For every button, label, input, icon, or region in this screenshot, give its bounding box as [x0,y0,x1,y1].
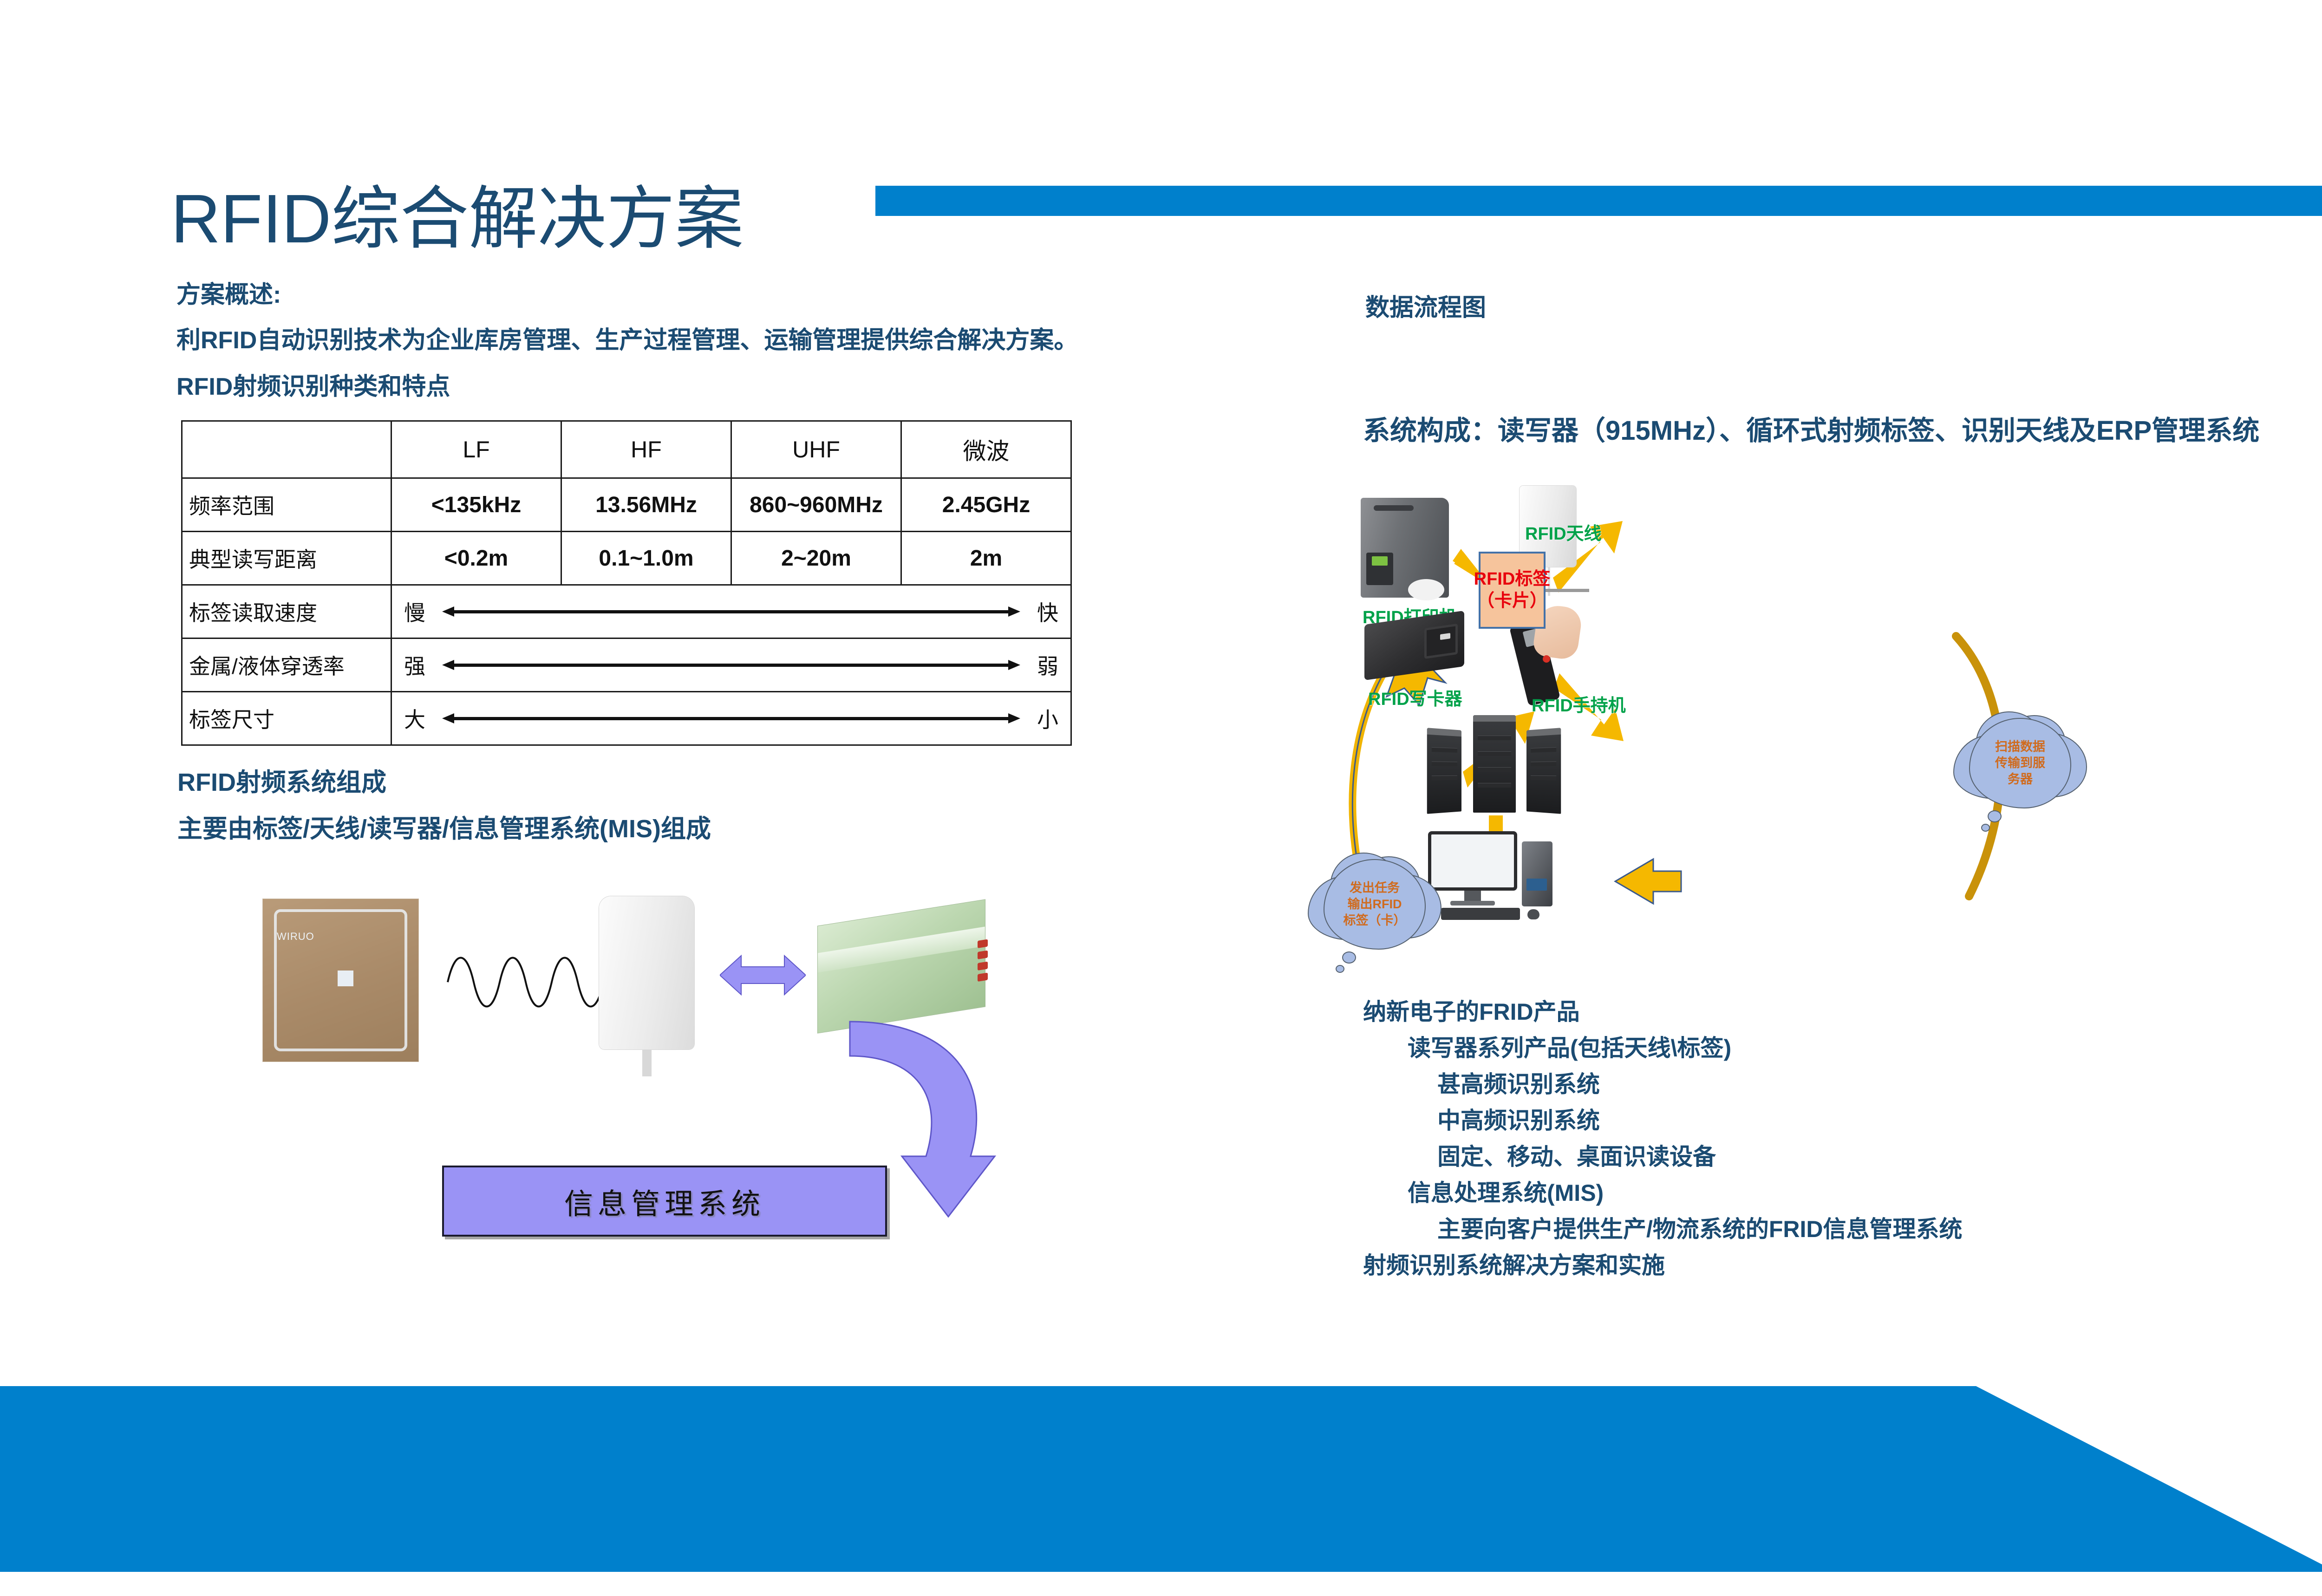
table-cell: 2m [901,532,1071,585]
rfid-tag-box-line1: RFID标签 [1474,568,1551,591]
table-header-cell: LF [391,421,561,478]
table-cell: 2~20m [731,532,901,585]
page-title-cjk: 综合解决方案 [331,182,744,258]
scan-upload-cloud: 扫描数据 传输到服 务器 [1969,718,2071,808]
monitor-base-icon [1450,901,1495,905]
server-rack-icon [1526,728,1561,814]
tag-chip-icon [338,971,353,986]
system-comp-heading: RFID射频系统组成 [177,762,386,798]
rfid-reader-photo [817,899,985,1033]
overview-label: 方案概述: [176,275,281,310]
monitor-icon [1428,831,1517,891]
table-scale-cell: 慢快 [391,585,1071,638]
writer-bay-icon [1424,624,1458,659]
scale-right-label: 弱 [1037,650,1058,680]
bottom-accent-band [0,1386,2322,1572]
bullet-item: 射频识别系统解决方案和实施 [1363,1247,1963,1283]
cloud-line: 输出RFID [1344,896,1406,912]
page-title-latin: RFID [171,181,331,257]
monitor-stand-icon [1464,891,1481,901]
data-flow-diagram: RFID打印机 RFID写卡器 RFID天线 RFID手持机 [1328,478,2118,943]
table-scale-cell: 强弱 [391,638,1071,692]
rfid-antenna-label: RFID天线 [1525,519,1602,545]
desktop-computer-photo [1428,831,1567,922]
scale-right-label: 小 [1037,703,1058,734]
table-row-label: 标签尺寸 [182,692,391,745]
table-row-label: 金属/液体穿透率 [182,638,391,692]
cloud-tail-icon [1988,810,2002,822]
cloud-tail-icon [1981,824,1990,832]
server-rack-icon [1473,715,1516,813]
cloud-tail-icon [1342,951,1356,964]
scale-arrow-icon [442,606,1020,617]
table-header-row: LFHFUHF微波 [182,421,1071,478]
rfid-comparison-table: LFHFUHF微波频率范围<135kHz13.56MHz860~960MHz2.… [181,420,1072,746]
table-cell: 2.45GHz [901,478,1071,532]
table-row: 标签尺寸大小 [182,692,1071,745]
scale-left-label: 强 [404,650,425,680]
scale-right-label: 快 [1037,596,1058,627]
issue-task-cloud: 发出任务 输出RFID 标签（卡） [1324,859,1426,950]
printer-panel-icon [1366,553,1393,585]
rfid-tag-photo: WIRUO [262,899,419,1062]
table-scale-cell: 大小 [391,692,1071,745]
cloud-line: 扫描数据 [1995,739,2045,755]
rfid-tag-box: RFID标签 （卡片） [1479,552,1546,629]
slide-canvas: RFID综合解决方案 方案概述: 利RFID自动识别技术为企业库房管理、生产过程… [0,0,2322,1596]
bullet-item: 信息处理系统(MIS) [1408,1175,1963,1211]
tag-logo-icon: WIRUO [277,931,314,943]
system-comp-body: 主要由标签/天线/读写器/信息管理系统(MIS)组成 [177,808,711,845]
keyboard-icon [1441,908,1520,920]
table-row: 频率范围<135kHz13.56MHz860~960MHz2.45GHz [182,478,1071,532]
scale-arrow-icon [442,660,1020,670]
bullet-item: 主要向客户提供生产/物流系统的FRID信息管理系统 [1437,1211,1963,1247]
bullet-item: 读写器系列产品(包括天线\标签) [1408,1030,1963,1066]
mis-box-label: 信息管理系统 [564,1180,765,1222]
printer-slot-icon [1374,505,1414,511]
cloud-line: 传输到服 [1995,755,2045,771]
table-row: 典型读写距离<0.2m0.1~1.0m2~20m2m [182,532,1071,585]
table-header-cell: 微波 [901,421,1071,478]
scale-arrow-icon [442,713,1020,723]
server-rack-icon [1427,728,1461,814]
rfid-writer-label: RFID写卡器 [1368,684,1462,710]
kinds-heading: RFID射频识别种类和特点 [176,367,450,402]
cloud-bubble-icon: 扫描数据 传输到服 务器 [1969,718,2071,808]
printer-label-roll-icon [1408,579,1444,600]
bidirectional-arrow-icon [720,952,806,998]
scale-left-label: 大 [404,703,425,734]
table-corner-cell [182,421,391,478]
cloud-tail-icon [1336,965,1344,973]
mouse-icon [1527,909,1539,919]
bullet-item: 固定、移动、桌面识读设备 [1437,1139,1963,1175]
table-row: 标签读取速度慢快 [182,585,1071,638]
table-row: 金属/液体穿透率强弱 [182,638,1071,692]
cloud-line: 发出任务 [1344,880,1406,896]
rfid-tag-box-line2: （卡片） [1477,590,1547,612]
bullet-item: 中高频识别系统 [1437,1102,1963,1139]
reader-stripe-icon [818,926,985,972]
dataflow-heading: 数据流程图 [1365,288,1486,323]
table-cell: 860~960MHz [731,478,901,532]
product-bullet-list: 纳新电子的FRID产品读写器系列产品(包括天线\标签)甚高频识别系统中高频识别系… [1363,994,1963,1283]
top-accent-bar [875,186,2322,216]
table-cell: <0.2m [391,532,561,585]
scale-left-label: 慢 [404,596,425,627]
table-row-label: 频率范围 [182,478,391,532]
antenna-stem-icon [642,1049,652,1076]
table-cell: 13.56MHz [561,478,731,532]
table-cell: <135kHz [391,478,561,532]
cloud-bubble-icon: 发出任务 输出RFID 标签（卡） [1324,859,1426,950]
bullet-item: 纳新电子的FRID产品 [1363,994,1963,1030]
mis-box: 信息管理系统 [442,1166,887,1237]
server-cluster-photo [1427,710,1561,813]
table-cell: 0.1~1.0m [561,532,731,585]
system-make-text: 系统构成：读写器（915MHz）、循环式射频标签、识别天线及ERP管理系统 [1363,409,2259,448]
handheld-button-icon [1543,655,1550,663]
cloud-line: 标签（卡） [1344,912,1406,929]
table-row-label: 标签读取速度 [182,585,391,638]
rfid-printer-photo [1361,498,1449,598]
antenna-photo [599,896,694,1049]
pc-tower-icon [1522,841,1552,906]
reader-ports-icon [978,939,989,992]
cloud-line: 务器 [1995,771,2045,788]
table-header-cell: UHF [731,421,901,478]
page-title: RFID综合解决方案 [171,185,744,254]
table-header-cell: HF [561,421,731,478]
overview-body: 利RFID自动识别技术为企业库房管理、生产过程管理、运输管理提供综合解决方案。 [176,320,1078,355]
bullet-item: 甚高频识别系统 [1437,1066,1963,1102]
table-row-label: 典型读写距离 [182,532,391,585]
